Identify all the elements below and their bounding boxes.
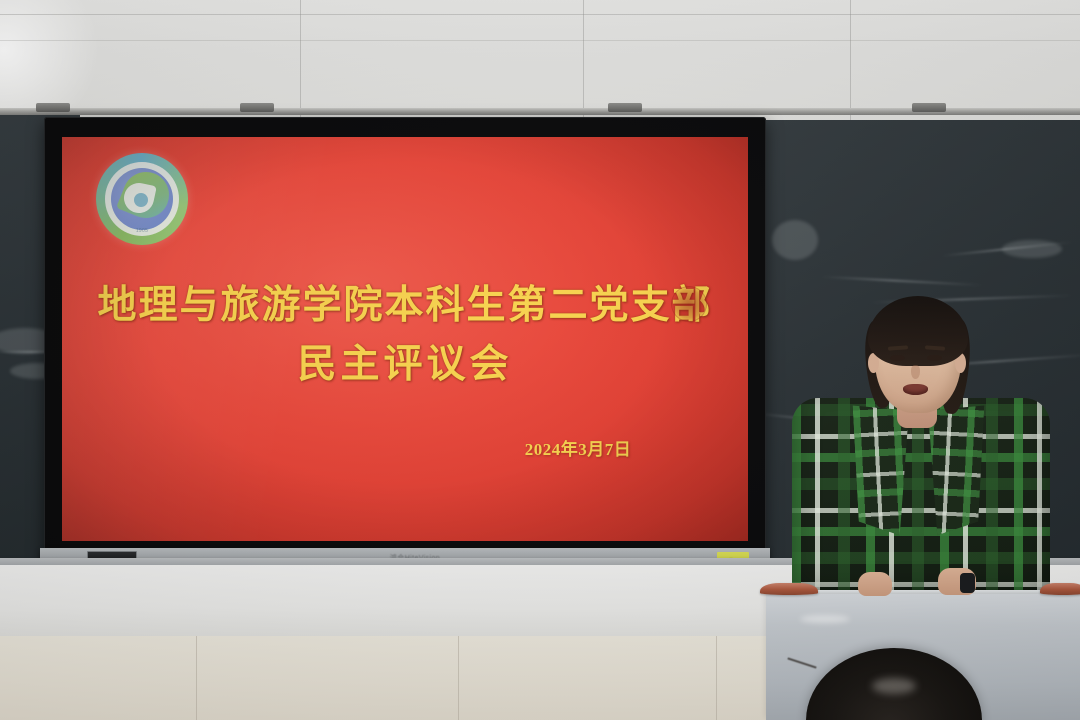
blackboard-clip (912, 103, 946, 112)
blackboard-clip (608, 103, 642, 112)
party-emblem-watermark-icon (671, 286, 707, 322)
university-emblem-icon: 1905 (96, 153, 188, 245)
speaker-mouth (903, 384, 928, 395)
slide-date: 2024年3月7日 (458, 435, 698, 460)
speaker-nose (911, 365, 920, 379)
tile-seam (458, 636, 459, 720)
wall-seam-horizontal (0, 14, 1080, 15)
wall-seam-horizontal (0, 40, 1080, 41)
speaker-eye-right (927, 355, 942, 361)
podium-wood-trim-right (1040, 583, 1080, 595)
slide-title-line-2: 民主评议会 (92, 333, 718, 389)
slide-title-line-1: 地理与旅游学院本科生第二党支部 (92, 274, 718, 330)
blackboard-clip (36, 103, 70, 112)
tile-seam (196, 636, 197, 720)
tile-seam (716, 636, 717, 720)
blackboard-clip (240, 103, 274, 112)
podium-highlight (800, 615, 850, 623)
speaker-eye-left (890, 355, 905, 361)
microphone-icon (960, 573, 975, 593)
speaker-plaid-coat (792, 398, 1050, 610)
emblem-caption: 1905 (96, 228, 188, 234)
presentation-slide: 1905 地理与旅游学院本科生第二党支部 民主评议会 2024年3月7日 (62, 137, 748, 541)
photo-scene: 1905 地理与旅游学院本科生第二党支部 民主评议会 2024年3月7日 鸿合H… (0, 0, 1080, 720)
podium-wood-trim-left (760, 583, 818, 595)
speaker-hand-left (858, 572, 892, 596)
audience-hair-sheen (872, 678, 916, 694)
interactive-smart-board[interactable]: 1905 地理与旅游学院本科生第二党支部 民主评议会 2024年3月7日 (44, 117, 766, 560)
emblem-center-dot (134, 193, 148, 207)
